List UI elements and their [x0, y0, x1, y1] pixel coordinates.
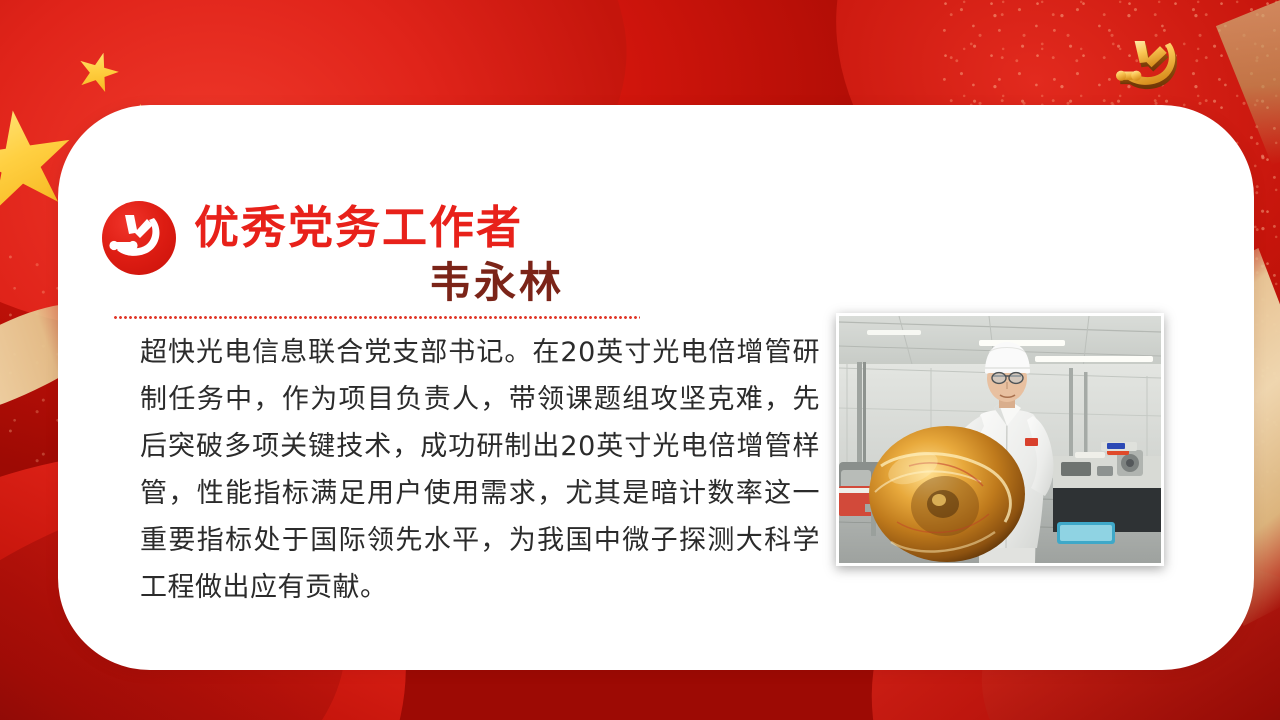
slide-canvas: 优秀党务工作者 韦永林 超快光电信息联合党支部书记。在20英寸光电倍增管研制任务…: [0, 0, 1280, 720]
page-title: 优秀党务工作者: [194, 201, 523, 254]
hammer-sickle-emblem-icon: [1106, 30, 1192, 96]
dotted-divider: [113, 316, 640, 319]
content-card: 优秀党务工作者 韦永林 超快光电信息联合党支部书记。在20英寸光电倍增管研制任务…: [58, 105, 1254, 670]
body-paragraph: 超快光电信息联合党支部书记。在20英寸光电倍增管研制任务中，作为项目负责人，带领…: [140, 329, 820, 611]
lab-photo: [836, 313, 1164, 566]
person-name: 韦永林: [194, 260, 564, 306]
flag-star-small-1: [73, 47, 122, 96]
party-emblem-icon: [102, 201, 176, 275]
